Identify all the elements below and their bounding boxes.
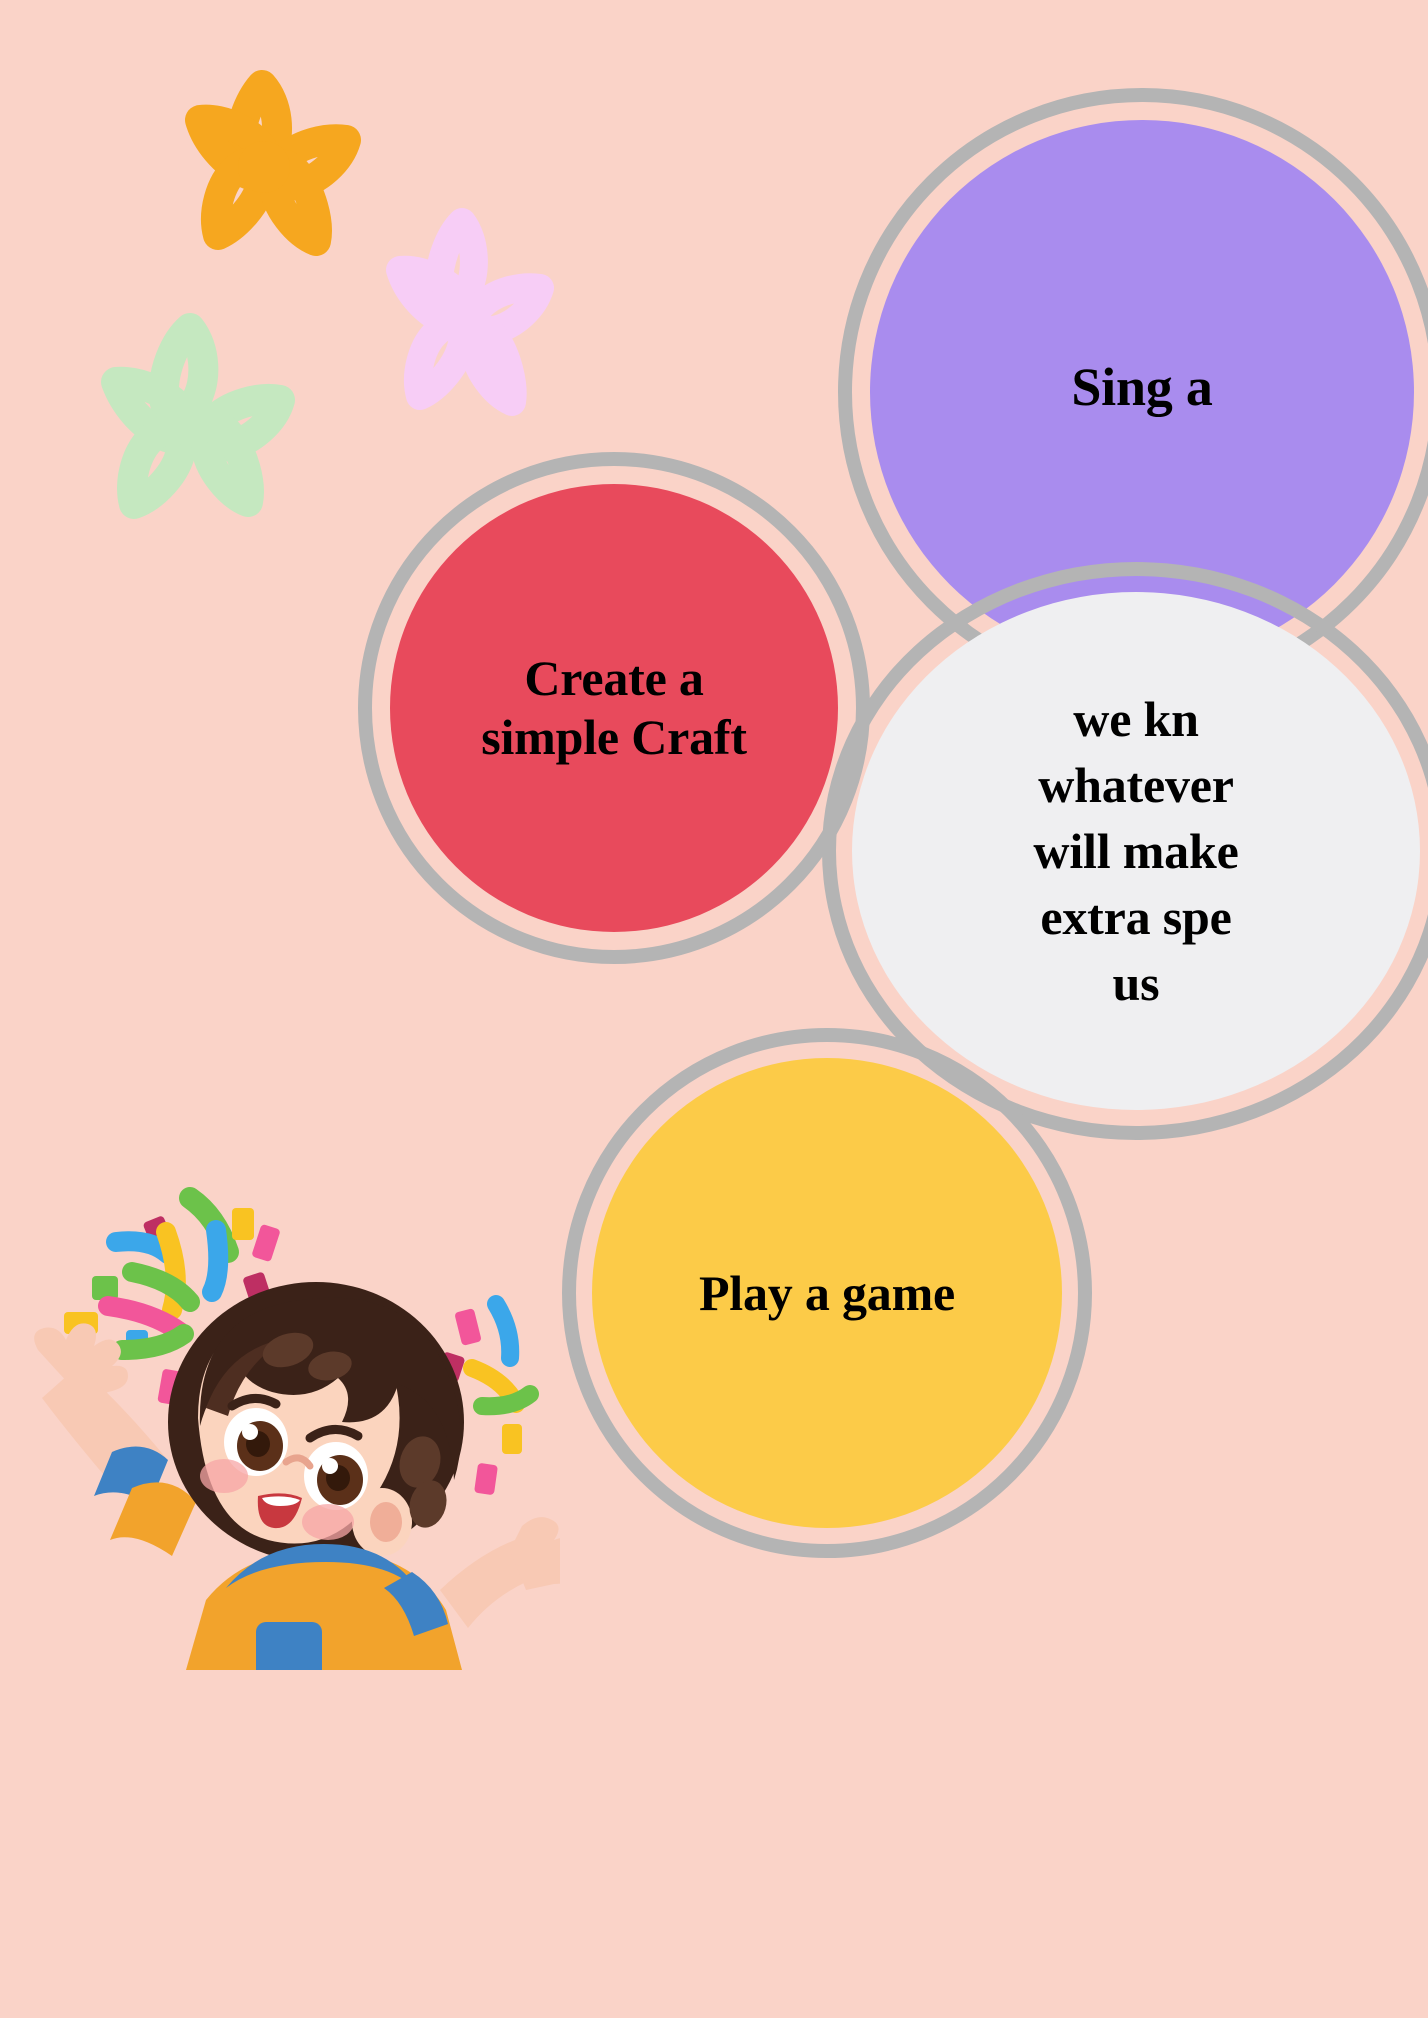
bubble-create-craft[interactable]: Create a simple Craft — [358, 452, 870, 964]
child-right-arm — [440, 1517, 560, 1628]
bubble-sing-label: Sing a — [1065, 356, 1218, 420]
note-line-5: us — [1033, 950, 1238, 1016]
celebrating-child-illustration — [20, 1170, 560, 1670]
note-line-4: extra spe — [1033, 884, 1238, 950]
note-line-1: we kn — [1033, 686, 1238, 752]
bubble-play-label: Play a game — [693, 1264, 961, 1323]
orange-flower-icon — [150, 45, 370, 275]
note-line-2: whatever — [1033, 752, 1238, 818]
child-body — [186, 1544, 462, 1670]
bubble-note-label: we kn whatever will make extra spe us — [1027, 686, 1244, 1016]
pink-flower-icon — [358, 188, 568, 440]
bubble-play-a-game[interactable]: Play a game — [562, 1028, 1092, 1558]
child-head — [168, 1282, 464, 1562]
note-line-3: will make — [1033, 818, 1238, 884]
bubble-craft-label: Create a simple Craft — [475, 649, 753, 767]
green-flower-icon — [72, 296, 312, 536]
poster-canvas: Sing a we kn whatever will make extra sp… — [0, 0, 1428, 2018]
craft-line-2: simple Craft — [481, 708, 747, 767]
craft-line-1: Create a — [481, 649, 747, 708]
